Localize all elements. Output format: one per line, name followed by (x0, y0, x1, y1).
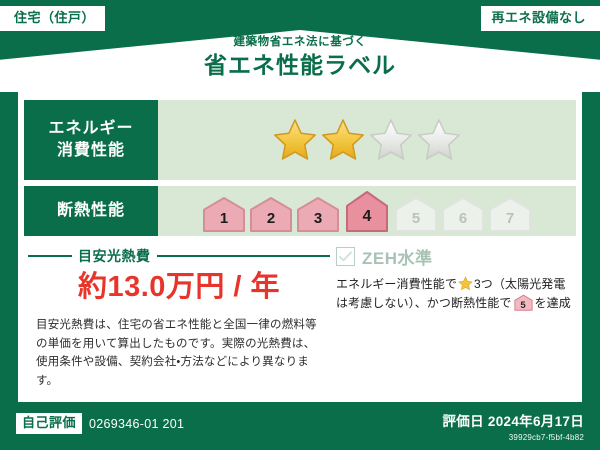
energy-cost-value: 約13.0万円 / 年 (28, 272, 330, 304)
insulation-level-1: 1 (202, 196, 246, 232)
insulation-level-scale: 1234567 (202, 190, 532, 232)
page-title: 省エネ性能ラベル (0, 52, 600, 78)
zeh-description: エネルギー消費性能で3つ（太陽光発電は考慮しない）、かつ断熱性能で5を達成 (336, 275, 572, 313)
energy-performance-label: エネルギー 消費性能 (24, 100, 158, 180)
star-icon-empty (416, 117, 462, 163)
star-icon-empty (368, 117, 414, 163)
footer-left: 自己評価 0269346-01 201 (16, 413, 184, 434)
footer-right: 評価日 2024年6月17日 39929cb7-f5bf-4b82 (442, 410, 584, 442)
heading-rule-right (157, 255, 331, 257)
house-level-number: 5 (514, 301, 533, 311)
insulation-level-number: 6 (441, 210, 485, 227)
zeh-column: ZEH水準 エネルギー消費性能で3つ（太陽光発電は考慮しない）、かつ断熱性能で5… (330, 242, 582, 390)
insulation-level-number: 3 (296, 210, 340, 227)
zeh-text-part1: エネルギー消費性能で (336, 277, 457, 291)
house-level-icon: 5 (514, 294, 533, 311)
insulation-performance-label: 断熱性能 (24, 186, 158, 236)
star-icon-filled (320, 117, 366, 163)
heading-rule-left (28, 255, 72, 257)
zeh-checkbox[interactable] (336, 247, 355, 266)
insulation-level-number: 1 (202, 210, 246, 227)
evaluation-hash: 39929cb7-f5bf-4b82 (442, 433, 584, 442)
evaluation-id: 0269346-01 201 (89, 417, 184, 431)
zeh-title: ZEH水準 (362, 244, 433, 269)
insulation-level-2: 2 (249, 196, 293, 232)
star-icon-filled (272, 117, 318, 163)
check-icon (339, 251, 352, 262)
insulation-level-number: 5 (394, 210, 438, 227)
energy-performance-label: 住宅（住戸） 再エネ設備なし 建築物省エネ法に基づく 省エネ性能ラベル エネルギ… (0, 0, 600, 450)
energy-performance-label-line1: エネルギー (48, 118, 133, 140)
star-rating (272, 117, 462, 163)
insulation-level-3: 3 (296, 196, 340, 232)
building-type-badge: 住宅（住戸） (0, 6, 105, 31)
insulation-level-number: 4 (343, 208, 391, 226)
footer: 自己評価 0269346-01 201 評価日 2024年6月17日 39929… (0, 402, 600, 450)
renewable-energy-badge: 再エネ設備なし (481, 6, 600, 31)
energy-performance-row: エネルギー 消費性能 (24, 100, 576, 180)
energy-cost-heading: 目安光熱費 (28, 246, 330, 266)
insulation-performance-body: 1234567 (158, 186, 576, 236)
insulation-level-number: 2 (249, 210, 293, 227)
energy-cost-title: 目安光熱費 (78, 246, 151, 266)
insulation-performance-row: 断熱性能 1234567 (24, 186, 576, 236)
insulation-level-4: 4 (343, 190, 391, 232)
insulation-level-6: 6 (441, 196, 485, 232)
insulation-level-7: 7 (488, 196, 532, 232)
energy-cost-column: 目安光熱費 約13.0万円 / 年 目安光熱費は、住宅の省エネ性能と全国一律の燃… (18, 242, 330, 390)
insulation-level-5: 5 (394, 196, 438, 232)
energy-performance-label-line2: 消費性能 (57, 140, 125, 162)
star-icon (458, 276, 473, 291)
header-title-block: 建築物省エネ法に基づく 省エネ性能ラベル (0, 36, 600, 78)
zeh-text-part3: を達成 (535, 296, 571, 310)
lower-section: 目安光熱費 約13.0万円 / 年 目安光熱費は、住宅の省エネ性能と全国一律の燃… (18, 242, 582, 390)
evaluation-date: 評価日 2024年6月17日 (442, 410, 584, 430)
self-evaluation-badge: 自己評価 (16, 413, 82, 434)
energy-performance-body (158, 100, 576, 180)
header-subtitle: 建築物省エネ法に基づく (0, 36, 600, 50)
energy-cost-note: 目安光熱費は、住宅の省エネ性能と全国一律の燃料等の単価を用いて算出したものです。… (28, 316, 330, 391)
label-card: エネルギー 消費性能 断熱性能 1234567 目安光熱費 約13.0万 (18, 92, 582, 402)
zeh-heading: ZEH水準 (336, 244, 572, 269)
insulation-level-number: 7 (488, 210, 532, 227)
